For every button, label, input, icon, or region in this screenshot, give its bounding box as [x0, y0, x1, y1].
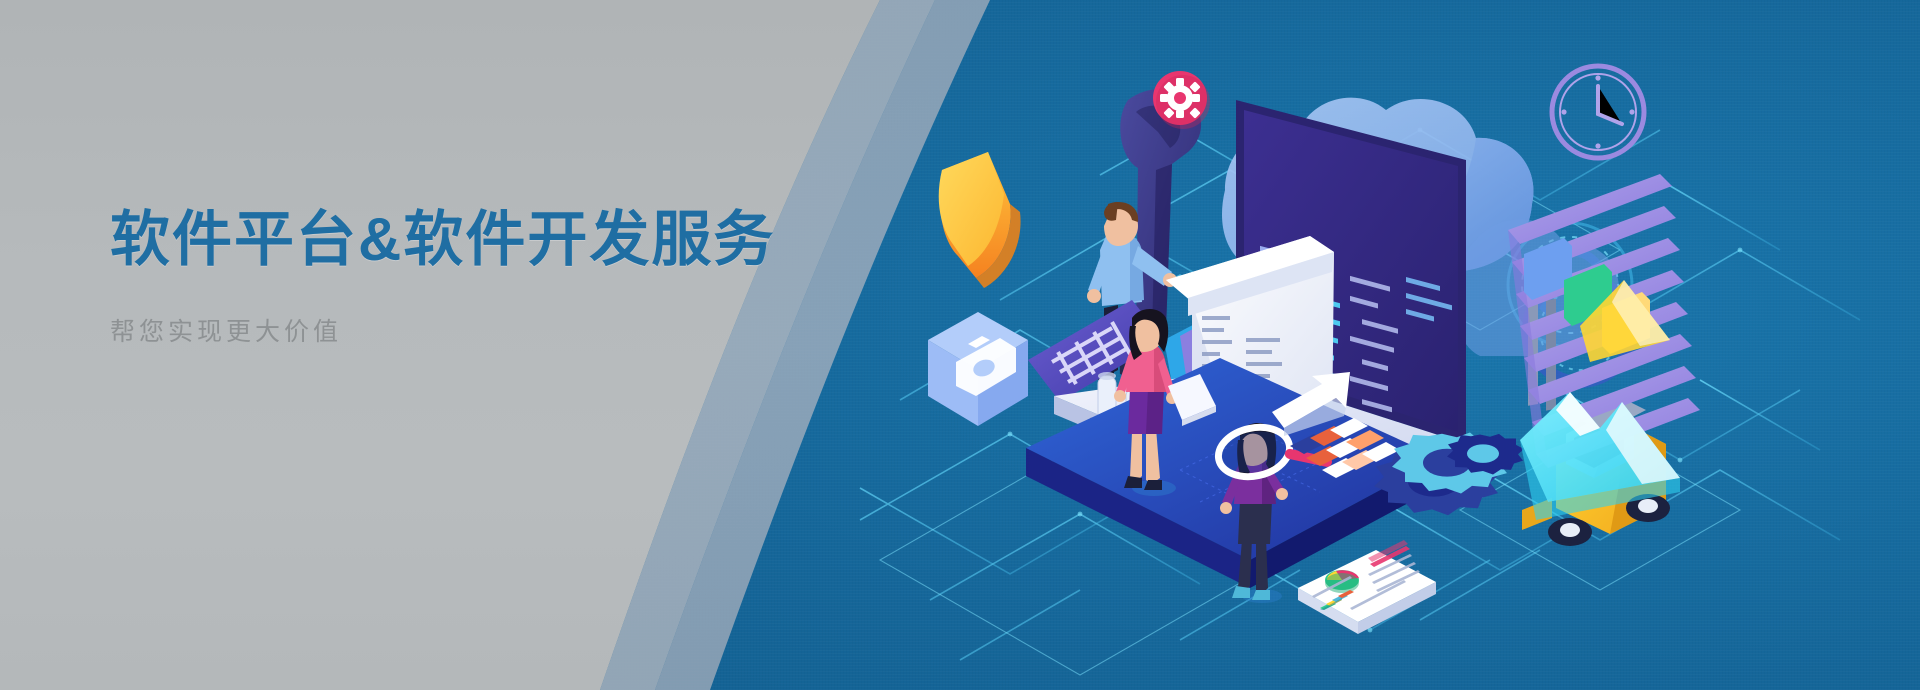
hero-banner: 软件平台&软件开发服务 帮您实现更大价值: [0, 0, 1920, 690]
banner-copy: 软件平台&软件开发服务 帮您实现更大价值: [110, 205, 870, 349]
shield-icon: [939, 152, 1021, 288]
page-title: 软件平台&软件开发服务: [110, 205, 870, 274]
isometric-illustration: [880, 40, 1920, 690]
clock-icon: [1552, 66, 1644, 158]
camera-tile-icon: [928, 312, 1028, 426]
news-report-card: [1298, 540, 1436, 634]
page-subtitle: 帮您实现更大价值: [110, 316, 870, 349]
